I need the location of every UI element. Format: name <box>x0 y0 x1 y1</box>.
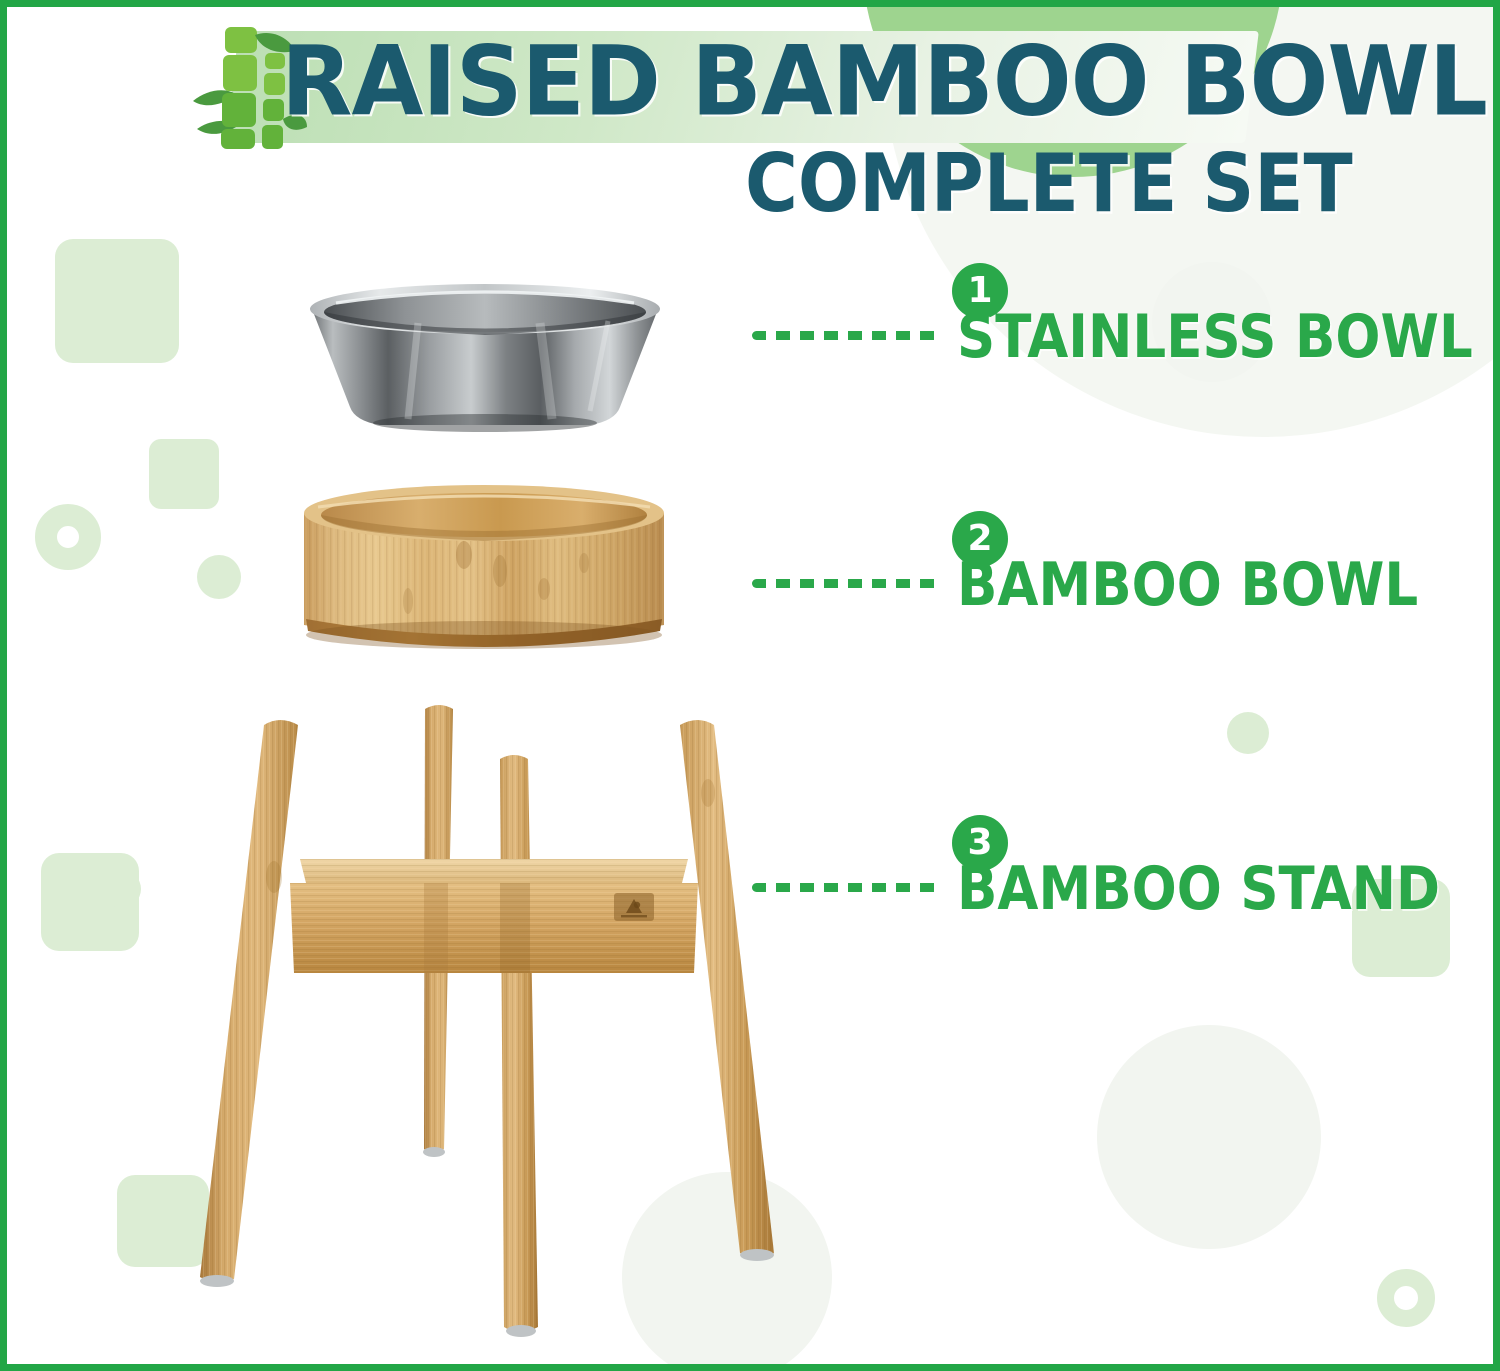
callout-dashed-line <box>752 883 942 892</box>
deco-circle <box>103 870 141 908</box>
deco-square <box>41 853 139 951</box>
bamboo-stand-image <box>182 697 802 1347</box>
stainless-steel-bowl-image <box>290 279 680 431</box>
callout-label: STAINLESS BOWL <box>957 303 1473 372</box>
deco-square <box>149 439 219 509</box>
deco-ring <box>1377 1269 1435 1327</box>
page-subtitle: COMPLETE SET <box>745 138 1353 231</box>
callout-dashed-line <box>752 331 942 340</box>
page-title: RAISED BAMBOO BOWL <box>281 26 1487 138</box>
callout-label: BAMBOO BOWL <box>957 551 1418 620</box>
callout-label: BAMBOO STAND <box>957 855 1440 924</box>
stand-rail-back <box>300 859 688 883</box>
deco-pale-circle <box>1097 1025 1321 1249</box>
deco-circle <box>1227 712 1269 754</box>
stand-rail-front <box>290 883 698 973</box>
stand-leg-front-right <box>680 720 774 1261</box>
infographic-page: RAISED BAMBOO BOWL COMPLETE SET <box>0 0 1500 1371</box>
deco-square <box>55 239 179 363</box>
deco-circle <box>197 555 241 599</box>
deco-ring <box>35 504 101 570</box>
stand-leg-front-left <box>200 720 298 1287</box>
callout-dashed-line <box>752 579 942 588</box>
stand-leg-back-right <box>500 755 538 1337</box>
bamboo-bowl-image <box>288 479 680 665</box>
brand-logo-stamp <box>614 893 654 921</box>
